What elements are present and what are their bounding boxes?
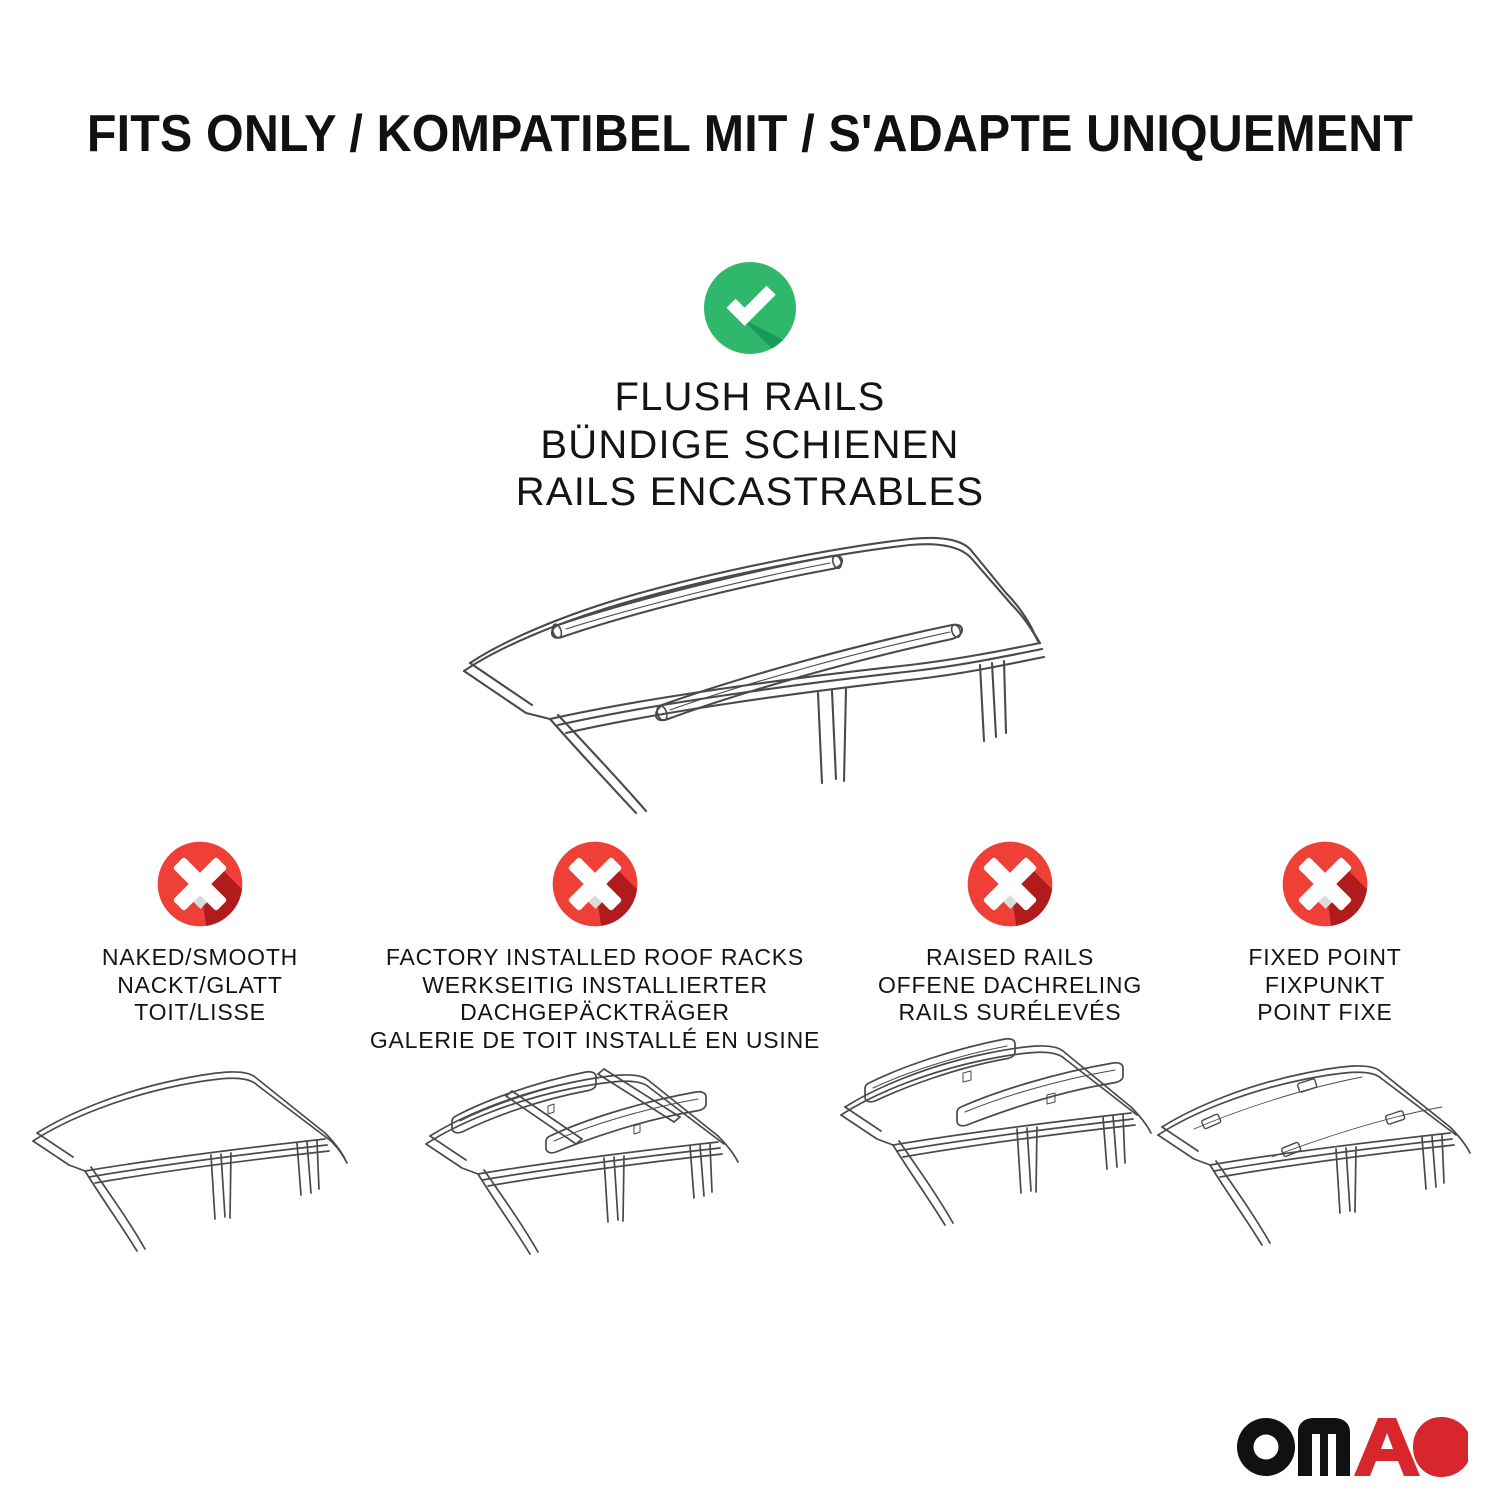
compatible-label-en: FLUSH RAILS xyxy=(516,374,984,422)
car-roof-fixed-point-illustration xyxy=(1150,1055,1500,1270)
label-fr: GALERIE DE TOIT INSTALLÉ EN USINE xyxy=(370,1027,820,1055)
compatible-section: FLUSH RAILS BÜNDIGE SCHIENEN RAILS ENCAS… xyxy=(0,258,1500,823)
label-fr: TOIT/LISSE xyxy=(102,999,298,1027)
label-fr: RAILS SURÉLEVÉS xyxy=(878,999,1142,1027)
cross-circle-icon xyxy=(1279,838,1371,930)
compatible-label-de: BÜNDIGE SCHIENEN xyxy=(516,422,984,470)
omac-logo xyxy=(1236,1416,1468,1478)
incompatible-labels-naked-smooth: NAKED/SMOOTH NACKT/GLATT TOIT/LISSE xyxy=(102,944,298,1027)
check-circle-icon xyxy=(700,258,800,358)
label-de: OFFENE DACHRELING xyxy=(878,972,1142,1000)
label-de-1: WERKSEITIG INSTALLIERTER xyxy=(370,972,820,1000)
incompatible-item-naked-smooth: NAKED/SMOOTH NACKT/GLATT TOIT/LISSE xyxy=(40,838,360,1270)
label-fr: POINT FIXE xyxy=(1248,999,1401,1027)
incompatible-section: NAKED/SMOOTH NACKT/GLATT TOIT/LISSE xyxy=(0,838,1500,1275)
incompatible-item-fixed-point: FIXED POINT FIXPUNKT POINT FIXE xyxy=(1190,838,1460,1270)
label-en: RAISED RAILS xyxy=(878,944,1142,972)
fitment-infographic: FITS ONLY / KOMPATIBEL MIT / S'ADAPTE UN… xyxy=(0,0,1500,1500)
cross-circle-icon xyxy=(964,838,1056,930)
label-en: NAKED/SMOOTH xyxy=(102,944,298,972)
incompatible-item-raised-rails: RAISED RAILS OFFENE DACHRELING RAILS SUR… xyxy=(830,838,1190,1248)
incompatible-item-factory-roof-racks: FACTORY INSTALLED ROOF RACKS WERKSEITIG … xyxy=(360,838,830,1275)
cross-circle-icon xyxy=(549,838,641,930)
car-roof-naked-smooth-illustration xyxy=(25,1055,375,1270)
label-de: FIXPUNKT xyxy=(1248,972,1401,1000)
car-roof-raised-rails-illustration xyxy=(835,1033,1185,1248)
label-de-2: DACHGEPÄCKTRÄGER xyxy=(370,999,820,1027)
compatible-labels: FLUSH RAILS BÜNDIGE SCHIENEN RAILS ENCAS… xyxy=(516,374,984,517)
incompatible-labels-fixed-point: FIXED POINT FIXPUNKT POINT FIXE xyxy=(1248,944,1401,1027)
car-roof-factory-roof-racks-illustration xyxy=(420,1060,770,1275)
label-en: FIXED POINT xyxy=(1248,944,1401,972)
car-roof-flush-rails-illustration xyxy=(440,523,1060,823)
incompatible-labels-factory-roof-racks: FACTORY INSTALLED ROOF RACKS WERKSEITIG … xyxy=(370,944,820,1054)
compatible-label-fr: RAILS ENCASTRABLES xyxy=(516,469,984,517)
cross-circle-icon xyxy=(154,838,246,930)
page-title: FITS ONLY / KOMPATIBEL MIT / S'ADAPTE UN… xyxy=(53,104,1448,164)
incompatible-labels-raised-rails: RAISED RAILS OFFENE DACHRELING RAILS SUR… xyxy=(878,944,1142,1027)
label-de: NACKT/GLATT xyxy=(102,972,298,1000)
label-en: FACTORY INSTALLED ROOF RACKS xyxy=(370,944,820,972)
